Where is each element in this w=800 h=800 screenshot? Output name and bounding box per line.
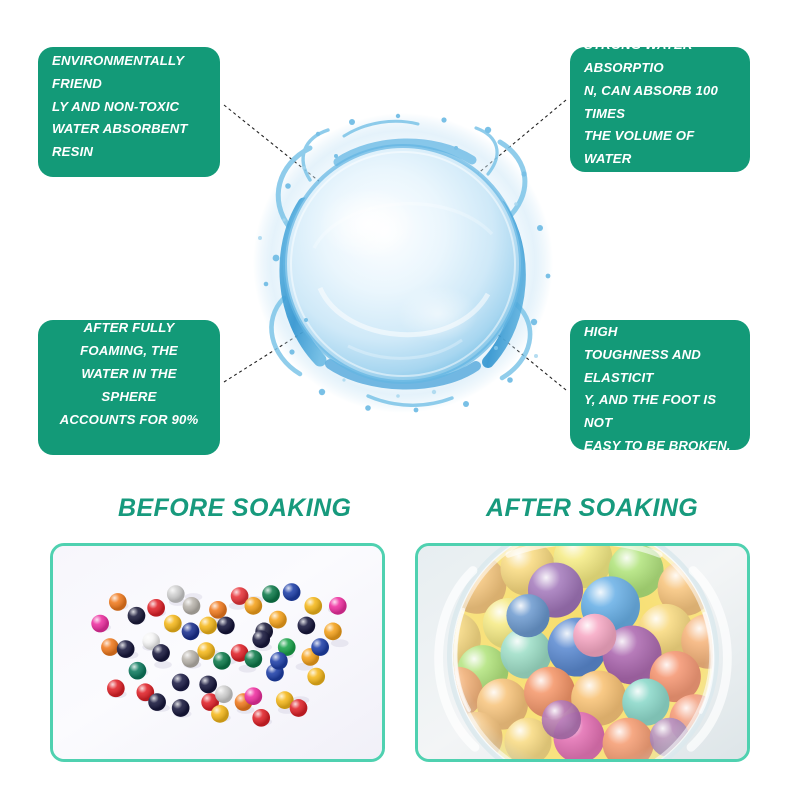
feature-box-environmentally-friendly: ENVIRONMENTALLY FRIEND LY AND NON-TOXIC … bbox=[38, 47, 220, 177]
after-soaking-title: AFTER SOAKING bbox=[486, 494, 698, 523]
water-sphere-svg bbox=[248, 108, 558, 418]
water-sphere-graphic bbox=[248, 108, 558, 418]
dry-water-beads-photo bbox=[53, 546, 382, 759]
hero-section: ENVIRONMENTALLY FRIEND LY AND NON-TOXIC … bbox=[0, 0, 800, 470]
feature-text-strong-water-absorption: STRONG WATER ABSORPTIO N, CAN ABSORB 100… bbox=[584, 34, 736, 185]
after-soaking-photo-frame bbox=[415, 543, 750, 762]
feature-box-strong-water-absorption: STRONG WATER ABSORPTIO N, CAN ABSORB 100… bbox=[570, 47, 750, 172]
before-soaking-title: BEFORE SOAKING bbox=[118, 494, 351, 523]
feature-text-high-toughness-elasticity: THE MATERIAL HAS HIGH TOUGHNESS AND ELAS… bbox=[584, 298, 736, 472]
feature-text-water-content-after-foaming: AFTER FULLY FOAMING, THE WATER IN THE SP… bbox=[52, 317, 206, 457]
before-soaking-photo-frame bbox=[50, 543, 385, 762]
feature-box-high-toughness-elasticity: THE MATERIAL HAS HIGH TOUGHNESS AND ELAS… bbox=[570, 320, 750, 450]
feature-text-environmentally-friendly: ENVIRONMENTALLY FRIEND LY AND NON-TOXIC … bbox=[52, 50, 206, 174]
infographic-page: ENVIRONMENTALLY FRIEND LY AND NON-TOXIC … bbox=[0, 0, 800, 800]
feature-box-water-content-after-foaming: AFTER FULLY FOAMING, THE WATER IN THE SP… bbox=[38, 320, 220, 455]
soaked-water-beads-photo bbox=[418, 546, 747, 759]
